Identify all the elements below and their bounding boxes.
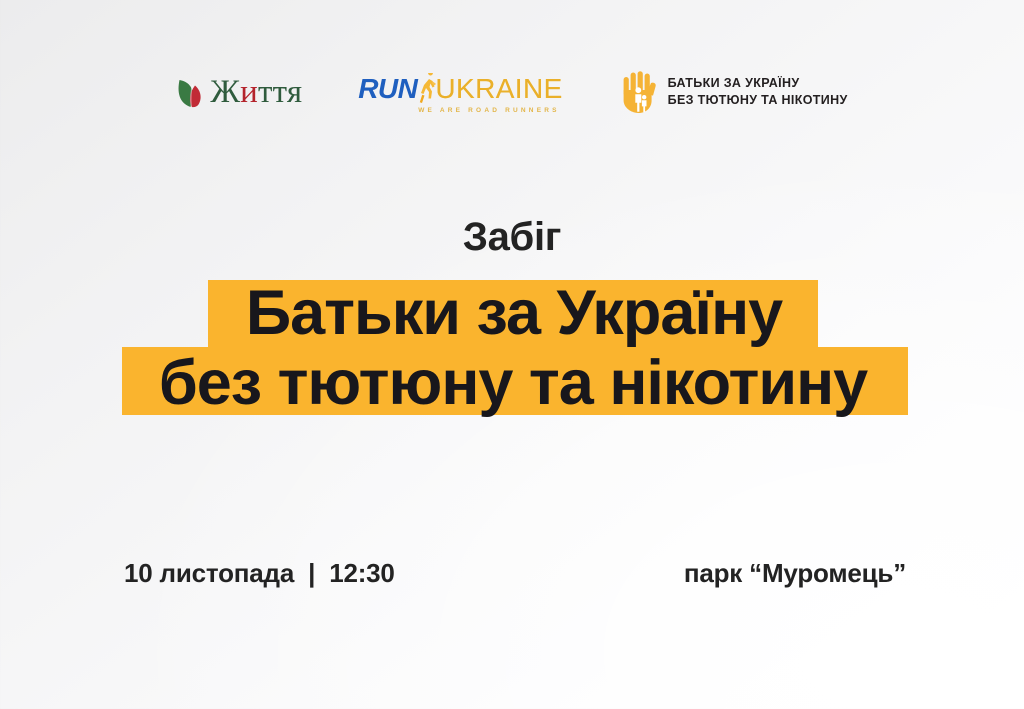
runner-icon: [419, 73, 436, 105]
zhyttia-wordmark-part2: и: [240, 74, 258, 110]
run-ukraine-tagline: WE ARE ROAD RUNNERS: [418, 107, 562, 114]
datetime-separator: |: [294, 558, 329, 589]
parents-for-ukraine-logo[interactable]: БАТЬКИ ЗА УКРАЇНУ БЕЗ ТЮТЮНУ ТА НІКОТИНУ: [619, 70, 848, 114]
zhyttia-logo[interactable]: Життя: [176, 76, 302, 109]
parents-logo-line-2: БЕЗ ТЮТЮНУ ТА НІКОТИНУ: [668, 94, 848, 107]
leaf-icon: [176, 76, 206, 108]
headline-line-1: Батьки за Україну: [0, 278, 1024, 348]
parents-for-ukraine-wordmark: БАТЬКИ ЗА УКРАЇНУ БЕЗ ТЮТЮНУ ТА НІКОТИНУ: [668, 77, 848, 106]
hand-with-parent-and-child-icon: [619, 70, 659, 114]
event-datetime: 10 листопада | 12:30: [124, 558, 395, 589]
headline-line-2: без тютюну та нікотину: [0, 348, 1024, 418]
event-date: 10 листопада: [124, 558, 294, 589]
ukraine-wordmark: UKRAINE: [435, 75, 562, 103]
kicker-text: Забіг: [0, 215, 1024, 260]
event-time: 12:30: [329, 558, 395, 589]
run-ukraine-wordmark-row: RUN UKRAINE: [358, 73, 562, 105]
run-wordmark: RUN: [358, 75, 417, 103]
zhyttia-wordmark-part3: ття: [258, 74, 302, 110]
logo-strip: Життя RUN UKRAINE WE ARE ROAD RUNNERS: [0, 64, 1024, 120]
event-location: парк “Муромець”: [684, 558, 906, 589]
zhyttia-wordmark: Життя: [210, 76, 302, 109]
poster-canvas: Життя RUN UKRAINE WE ARE ROAD RUNNERS: [0, 0, 1024, 709]
run-ukraine-logo[interactable]: RUN UKRAINE WE ARE ROAD RUNNERS: [358, 71, 562, 114]
parents-logo-line-1: БАТЬКИ ЗА УКРАЇНУ: [668, 77, 848, 90]
page-title: Батьки за Україну без тютюну та нікотину: [0, 278, 1024, 418]
zhyttia-wordmark-part1: Ж: [210, 74, 240, 110]
event-details: 10 листопада | 12:30 парк “Муромець”: [0, 558, 1024, 598]
